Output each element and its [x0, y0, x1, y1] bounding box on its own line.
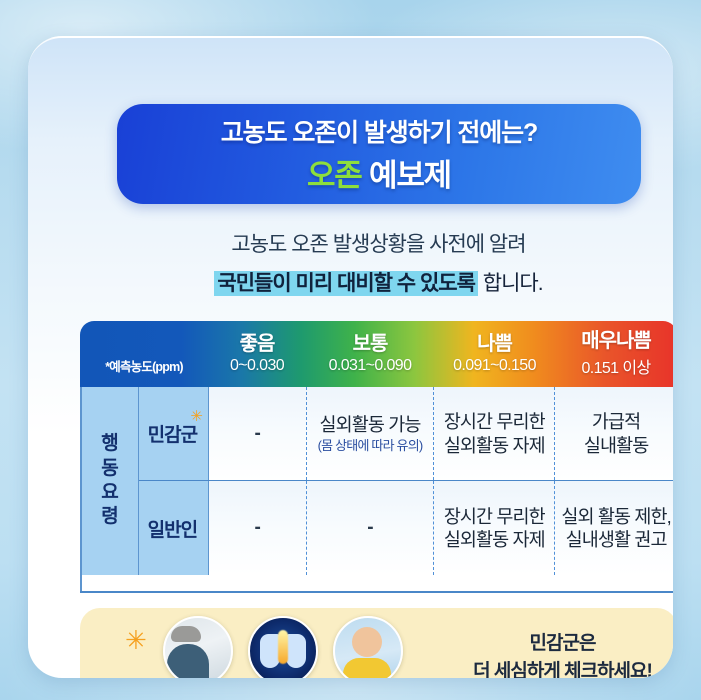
row-label-general-public: 일반인: [137, 481, 209, 575]
grade-range: 0.151 이상: [581, 354, 650, 378]
cell-text: 실외활동 가능: [320, 413, 421, 436]
cell-sensitive-normal: 실외활동 가능 (몸 상태에 따라 유의): [307, 387, 435, 480]
child-icon: [333, 616, 403, 678]
main-card: 고농도 오존이 발생하기 전에는? 오존 예보제 고농도 오존 발생상황을 사전…: [28, 36, 673, 678]
subtitle-highlight: 국민들이 미리 대비할 수 있도록: [214, 271, 478, 296]
subtitle-line-1: 고농도 오존 발생상황을 사전에 알려: [56, 228, 673, 258]
concentration-note: *예측농도(ppm): [80, 321, 208, 387]
table-row: 일반인 - - 장시간 무리한 실외활동 자제 실외 활동 제한, 실내생활 권…: [80, 480, 673, 575]
subtitle-line-2: 국민들이 미리 대비할 수 있도록 합니다.: [56, 267, 673, 297]
cell-text: -: [254, 516, 259, 540]
cell-general-bad: 장시간 무리한 실외활동 자제: [434, 481, 555, 575]
footer-message-line-1: 민감군은: [455, 630, 670, 658]
title-headline: 오존 예보제: [307, 150, 451, 195]
cell-text-line-2: 실내활동: [584, 434, 648, 457]
row-label-sensitive-group: 민감군 ✳: [137, 387, 209, 480]
grade-header-good: 좋음 0~0.030: [208, 321, 306, 387]
cell-text: -: [367, 516, 372, 540]
grade-header-normal: 보통 0.031~0.090: [306, 321, 434, 387]
cell-general-good: -: [209, 481, 307, 575]
table-body: 행 동 요 령 민감군 ✳ - 실외활동 가능 (몸 상태에 따라 유의): [80, 387, 673, 591]
cell-general-normal: -: [307, 481, 435, 575]
table-bottom-border: [80, 591, 673, 593]
lungs-icon: [248, 616, 318, 678]
row-group-label-char-3: 요: [101, 481, 117, 505]
avatar-item-respiratory: 호흡기·심장질환자: [243, 616, 323, 678]
cell-text-line-1: 장시간 무리한: [444, 505, 545, 528]
footer-message: 민감군은 더 세심하게 체크하세요!: [455, 630, 670, 678]
avatar-item-child: 어린이: [328, 616, 408, 678]
row-group-label-char-4: 령: [101, 505, 117, 529]
cell-text: -: [254, 422, 259, 446]
avatar-item-elderly: 노약자: [158, 616, 238, 678]
row-group-label-char-2: 동: [101, 457, 117, 481]
ozone-forecast-table: *예측농도(ppm) 좋음 0~0.030 보통 0.031~0.090 나쁨 …: [80, 321, 673, 591]
subtitle-block: 고농도 오존 발생상황을 사전에 알려 국민들이 미리 대비할 수 있도록 합니…: [56, 228, 673, 297]
title-headline-white: 예보제: [369, 158, 451, 193]
cell-text-line-2: 실외활동 자제: [444, 434, 545, 457]
footer-message-line-2: 더 세심하게 체크하세요!: [455, 658, 670, 678]
cell-general-very-bad: 실외 활동 제한, 실내생활 권고: [555, 481, 673, 575]
cell-text-line-2: 실내생활 권고: [566, 528, 667, 551]
table-left-edge: [80, 387, 82, 591]
avatar-group: 노약자 호흡기·심장질환자 어린이: [158, 616, 408, 678]
title-banner: 고농도 오존이 발생하기 전에는? 오존 예보제: [117, 104, 641, 204]
grade-range: 0.031~0.090: [329, 357, 412, 375]
row-label-text: 일반인: [148, 515, 197, 542]
title-headline-green: 오존: [307, 158, 362, 193]
title-question: 고농도 오존이 발생하기 전에는?: [221, 113, 537, 149]
cell-sensitive-bad: 장시간 무리한 실외활동 자제: [434, 387, 555, 480]
footer-panel: ✳ 노약자 호흡기·심장질환자 어린이 민감군은 더 세심하게 체크하세: [80, 608, 673, 678]
lung-right-shape: [286, 634, 306, 668]
asterisk-icon: ✳: [190, 407, 202, 425]
grade-header-very-bad: 매우나쁨 0.151 이상: [555, 321, 673, 387]
table-row: 민감군 ✳ - 실외활동 가능 (몸 상태에 따라 유의) 장시간 무리한 실외…: [80, 387, 673, 480]
grade-name: 좋음: [240, 334, 275, 355]
grade-range: 0.091~0.150: [453, 357, 536, 375]
table-header-gradient: *예측농도(ppm) 좋음 0~0.030 보통 0.031~0.090 나쁨 …: [80, 321, 673, 387]
grade-range: 0~0.030: [230, 357, 284, 375]
row-group-label: 행 동 요 령: [80, 387, 139, 575]
lung-left-shape: [260, 634, 280, 668]
cell-sensitive-very-bad: 가급적 실내활동: [555, 387, 673, 480]
row-group-label-char-1: 행: [101, 432, 117, 456]
cell-text-line-1: 장시간 무리한: [444, 410, 545, 433]
cell-subnote: (몸 상태에 따라 유의): [318, 438, 423, 454]
grade-name: 보통: [353, 334, 388, 355]
lung-core-glow: [278, 630, 288, 664]
cell-text-line-1: 가급적: [592, 410, 640, 433]
cell-text-line-2: 실외활동 자제: [444, 528, 545, 551]
cell-sensitive-good: -: [209, 387, 307, 480]
elderly-person-icon: [163, 616, 233, 678]
subtitle-tail: 합니다.: [478, 272, 543, 295]
grade-name: 매우나쁨: [581, 331, 651, 352]
cell-text-line-1: 실외 활동 제한,: [561, 505, 670, 528]
asterisk-icon: ✳: [125, 625, 147, 656]
grade-name: 나쁨: [477, 334, 512, 355]
grade-header-bad: 나쁨 0.091~0.150: [434, 321, 555, 387]
